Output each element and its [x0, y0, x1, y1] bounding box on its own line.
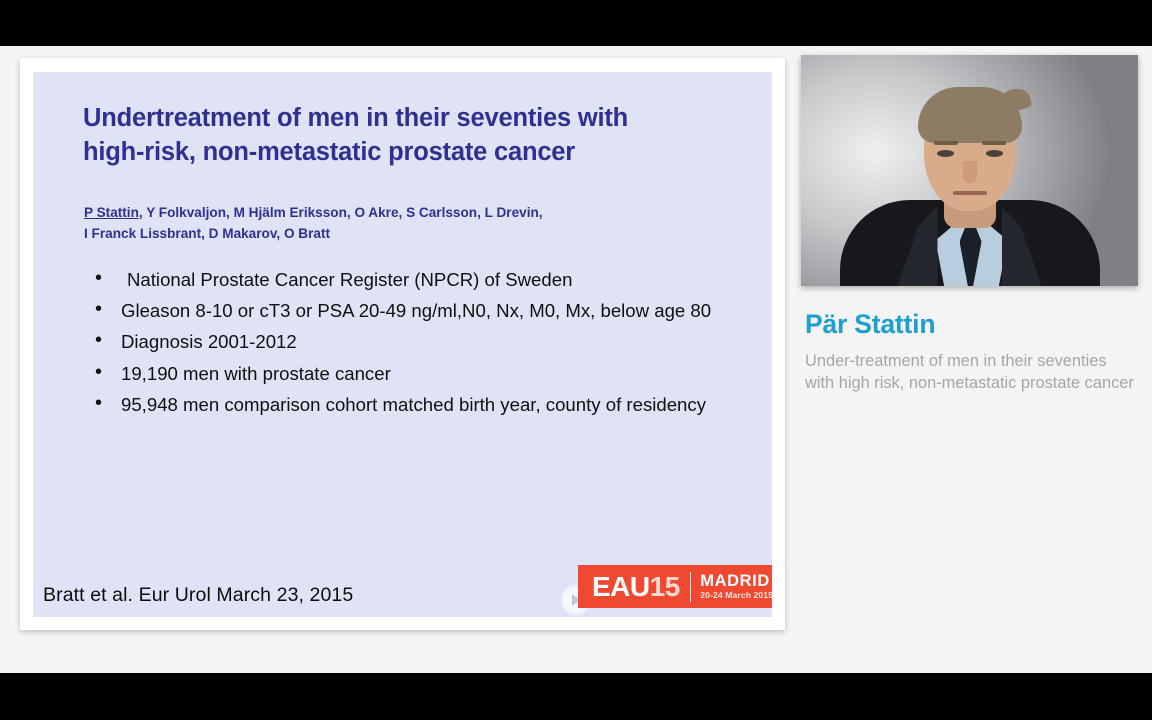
eau-logo-text: EAU — [592, 573, 650, 601]
portrait-eyebrow-left — [934, 141, 958, 145]
speaker-panel: Pär Stattin Under-treatment of men in th… — [801, 55, 1146, 475]
list-item: 95,948 men comparison cohort matched bir… — [79, 389, 769, 420]
eau-logo-city: MADRID — [700, 573, 772, 590]
eau-logo-dates: 20-24 March 2015 — [700, 590, 772, 601]
list-item: 19,190 men with prostate cancer — [79, 358, 769, 389]
video-player-stage: Undertreatment of men in their seventies… — [0, 0, 1152, 720]
slide-title-line-2: high-risk, non-metastatic prostate cance… — [83, 135, 723, 169]
portrait-eye-left — [937, 150, 954, 157]
eau-logo-divider — [690, 572, 692, 602]
eau-logo-year: 15 — [650, 573, 680, 601]
slide-title-line-1: Undertreatment of men in their seventies… — [83, 101, 723, 135]
slide-title: Undertreatment of men in their seventies… — [83, 101, 723, 169]
content-area: Undertreatment of men in their seventies… — [0, 46, 1152, 673]
portrait-eyebrow-right — [982, 141, 1006, 145]
speaker-name: Pär Stattin — [805, 309, 1146, 340]
authors-line-2: I Franck Lissbrant, D Makarov, O Bratt — [84, 223, 734, 244]
authors-line-1-rest: , Y Folkvaljon, M Hjälm Eriksson, O Akre… — [139, 205, 543, 220]
eau15-congress-logo: EAU 15 MADRID 20-24 March 2015 — [578, 565, 772, 608]
letterbox-top — [0, 0, 1152, 46]
portrait-mouth — [953, 191, 987, 195]
speaker-portrait-photo — [801, 55, 1138, 286]
letterbox-bottom — [0, 673, 1152, 720]
portrait-nose — [963, 161, 977, 183]
list-item: National Prostate Cancer Register (NPCR)… — [79, 264, 769, 295]
list-item: Diagnosis 2001-2012 — [79, 326, 769, 357]
portrait-eye-right — [986, 150, 1003, 157]
presentation-slide: Undertreatment of men in their seventies… — [33, 72, 772, 617]
slide-card: Undertreatment of men in their seventies… — [20, 58, 785, 630]
slide-bullet-list: National Prostate Cancer Register (NPCR)… — [79, 264, 769, 420]
author-presenting: P Stattin — [84, 205, 139, 220]
speaker-talk-description: Under-treatment of men in their seventie… — [805, 350, 1135, 394]
eau-logo-location: MADRID 20-24 March 2015 — [700, 573, 772, 601]
list-item: Gleason 8-10 or cT3 or PSA 20-49 ng/ml,N… — [79, 295, 769, 326]
slide-authors: P Stattin, Y Folkvaljon, M Hjälm Eriksso… — [84, 202, 734, 244]
portrait-hair — [918, 87, 1022, 143]
slide-citation: Bratt et al. Eur Urol March 23, 2015 — [43, 584, 353, 607]
authors-line-1: P Stattin, Y Folkvaljon, M Hjälm Eriksso… — [84, 202, 734, 223]
